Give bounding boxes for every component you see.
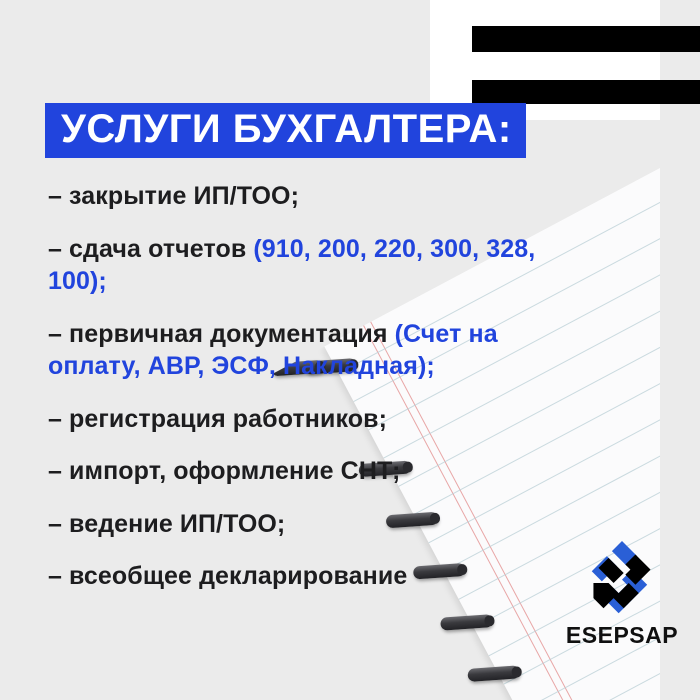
list-item-lead: – первичная документация: [48, 320, 395, 348]
list-item-lead: – ведение ИП/ТОО;: [48, 510, 285, 538]
services-list: – закрытие ИП/ТОО; – сдача отчетов (910,…: [48, 180, 588, 613]
list-item: – первичная документация (Счет на оплату…: [48, 318, 588, 383]
list-item: – сдача отчетов (910, 200, 220, 300, 328…: [48, 233, 588, 298]
list-item-lead: – импорт, оформление СНТ;: [48, 457, 400, 485]
list-item: – регистрация работников;: [48, 403, 588, 436]
list-item: – ведение ИП/ТОО;: [48, 508, 588, 541]
brand-logo: ESEPSAP: [562, 536, 682, 649]
list-item-lead: – всеобщее декларирование: [48, 562, 407, 590]
logo-wordmark: ESEPSAP: [562, 622, 682, 649]
decor-bar-second: [472, 80, 700, 104]
poster-canvas: УСЛУГИ БУХГАЛТЕРА: – закрытие ИП/ТОО; – …: [0, 0, 700, 700]
list-item-lead: – закрытие ИП/ТОО;: [48, 182, 299, 210]
list-item: – закрытие ИП/ТОО;: [48, 180, 588, 213]
esepsap-mark-icon: [580, 536, 664, 620]
list-item: – всеобщее декларирование: [48, 560, 588, 593]
list-item: – импорт, оформление СНТ;: [48, 455, 588, 488]
list-item-lead: – регистрация работников;: [48, 405, 387, 433]
page-title: УСЛУГИ БУХГАЛТЕРА:: [45, 103, 526, 158]
list-item-lead: – сдача отчетов: [48, 235, 253, 263]
decor-bar-top: [472, 26, 700, 52]
